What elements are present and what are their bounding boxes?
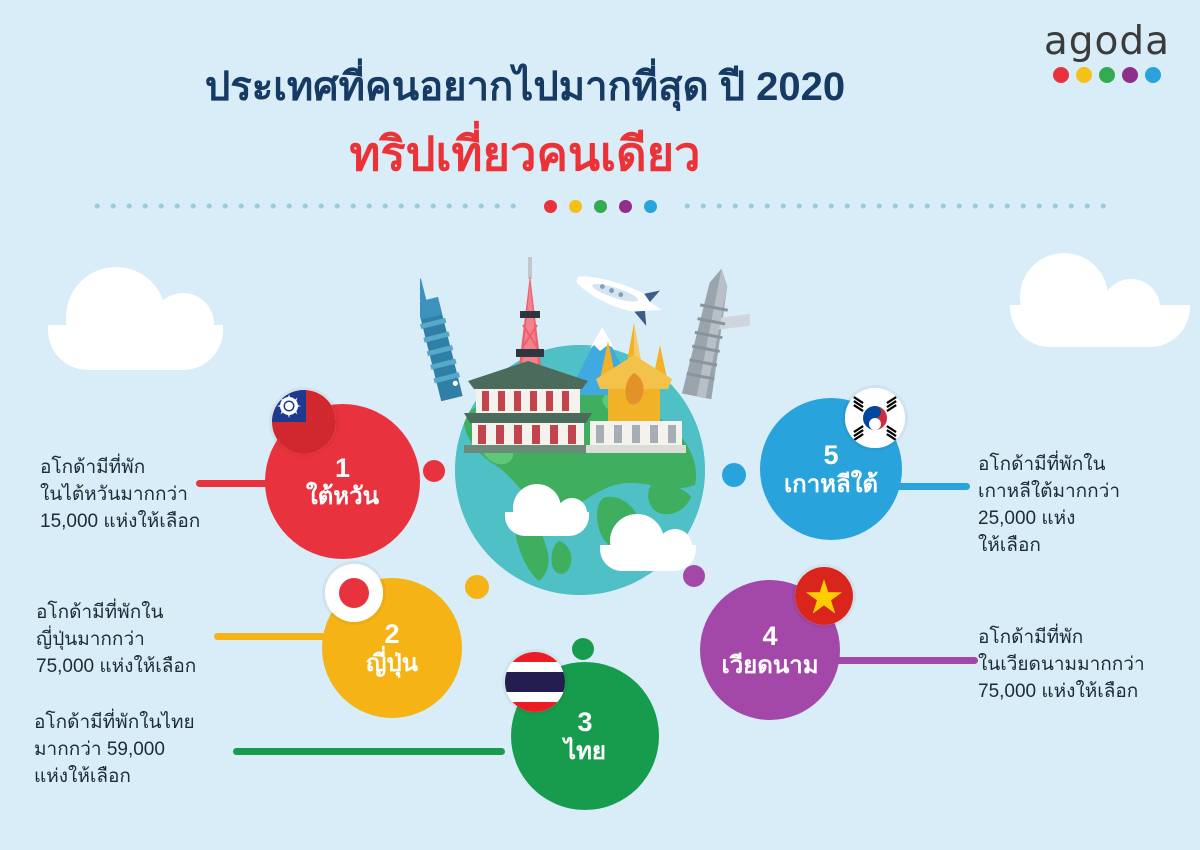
accent-dot-1 bbox=[423, 460, 445, 482]
infographic-canvas: agoda ประเทศที่คนอยากไปมากที่สุด ปี 2020… bbox=[0, 0, 1200, 850]
caption-1: อโกด้ามีที่พัก ในไต้หวันมากกว่า 15,000 แ… bbox=[40, 455, 220, 536]
caption-3-line-3: แห่งให้เลือก bbox=[34, 764, 234, 791]
caption-2-line-3: 75,000 แห่งให้เลือก bbox=[36, 654, 226, 681]
accent-dot-5 bbox=[722, 463, 746, 487]
connector-line-3 bbox=[233, 748, 505, 755]
cloud-over-globe-right bbox=[600, 545, 696, 571]
bubble-3-rank: 3 bbox=[577, 708, 592, 736]
connector-line-2 bbox=[214, 633, 326, 640]
logo-dot-red bbox=[1053, 67, 1069, 83]
divider-dot-blue bbox=[644, 200, 657, 213]
divider-dots-left bbox=[85, 199, 526, 213]
airplane-icon bbox=[570, 265, 667, 329]
bubble-3-label: ไทย bbox=[564, 739, 606, 764]
caption-5-line-1: อโกด้ามีที่พักใน bbox=[978, 452, 1183, 479]
landmark-scene bbox=[420, 245, 750, 465]
bitexco-tower-icon bbox=[682, 266, 750, 405]
divider-dot-yellow bbox=[569, 200, 582, 213]
gyeongbokgung-palace-icon bbox=[464, 361, 594, 453]
caption-1-line-1: อโกด้ามีที่พัก bbox=[40, 455, 220, 482]
divider bbox=[85, 198, 1115, 214]
bubble-4-label: เวียดนาม bbox=[721, 653, 818, 678]
caption-3-line-2: มากกว่า 59,000 bbox=[34, 737, 234, 764]
taiwan-flag-icon bbox=[272, 390, 336, 454]
thailand-flag-icon bbox=[505, 652, 565, 712]
vietnam-flag-icon bbox=[795, 567, 853, 625]
logo-dots bbox=[1044, 67, 1170, 83]
taipei-101-icon bbox=[420, 275, 465, 402]
page-subtitle: ทริปเที่ยวคนเดียว bbox=[0, 116, 1050, 191]
caption-3-line-1: อโกด้ามีที่พักในไทย bbox=[34, 710, 234, 737]
caption-4-line-2: ในเวียดนามมากกว่า bbox=[978, 652, 1188, 679]
caption-5: อโกด้ามีที่พักใน เกาหลีใต้มากกว่า 25,000… bbox=[978, 452, 1183, 560]
logo-wordmark: agoda bbox=[1044, 22, 1170, 61]
logo-dot-blue bbox=[1145, 67, 1161, 83]
south-korea-flag-icon bbox=[845, 388, 905, 448]
divider-dot-red bbox=[544, 200, 557, 213]
bubble-1-label: ใต้หวัน bbox=[306, 484, 379, 509]
divider-color-dots bbox=[544, 200, 657, 213]
bubble-2-rank: 2 bbox=[384, 620, 399, 648]
caption-5-line-2: เกาหลีใต้มากกว่า bbox=[978, 479, 1183, 506]
bubble-2-label: ญี่ปุ่น bbox=[366, 651, 418, 676]
caption-5-line-3: 25,000 แห่ง bbox=[978, 506, 1183, 533]
agoda-logo: agoda bbox=[1044, 22, 1170, 83]
logo-dot-green bbox=[1099, 67, 1115, 83]
caption-2: อโกด้ามีที่พักใน ญี่ปุ่นมากกว่า 75,000 แ… bbox=[36, 600, 226, 681]
bubble-5-label: เกาหลีใต้ bbox=[784, 472, 878, 497]
logo-dot-yellow bbox=[1076, 67, 1092, 83]
caption-4-line-3: 75,000 แห่งให้เลือก bbox=[978, 679, 1188, 706]
caption-4-line-1: อโกด้ามีที่พัก bbox=[978, 625, 1188, 652]
caption-4: อโกด้ามีที่พัก ในเวียดนามมากกว่า 75,000 … bbox=[978, 625, 1188, 706]
page-title: ประเทศที่คนอยากไปมากที่สุด ปี 2020 bbox=[0, 54, 1050, 118]
connector-line-4 bbox=[830, 657, 978, 664]
bubble-4-rank: 4 bbox=[762, 622, 777, 650]
cloud-decoration-left bbox=[48, 325, 223, 370]
caption-2-line-2: ญี่ปุ่นมากกว่า bbox=[36, 627, 226, 654]
bubble-1-rank: 1 bbox=[335, 454, 350, 482]
caption-3: อโกด้ามีที่พักในไทย มากกว่า 59,000 แห่งใ… bbox=[34, 710, 234, 791]
accent-dot-4 bbox=[683, 565, 705, 587]
divider-dot-green bbox=[594, 200, 607, 213]
cloud-decoration-right bbox=[1010, 305, 1190, 347]
divider-dot-purple bbox=[619, 200, 632, 213]
japan-flag-icon bbox=[325, 564, 383, 622]
caption-1-line-2: ในไต้หวันมากกว่า bbox=[40, 482, 220, 509]
accent-dot-3 bbox=[572, 638, 594, 660]
cloud-over-globe-left bbox=[505, 512, 589, 536]
caption-5-line-4: ให้เลือก bbox=[978, 533, 1183, 560]
logo-dot-purple bbox=[1122, 67, 1138, 83]
caption-1-line-3: 15,000 แห่งให้เลือก bbox=[40, 509, 220, 536]
bubble-5-rank: 5 bbox=[823, 441, 838, 469]
caption-2-line-1: อโกด้ามีที่พักใน bbox=[36, 600, 226, 627]
divider-dots-right bbox=[675, 199, 1116, 213]
accent-dot-2 bbox=[465, 575, 489, 599]
